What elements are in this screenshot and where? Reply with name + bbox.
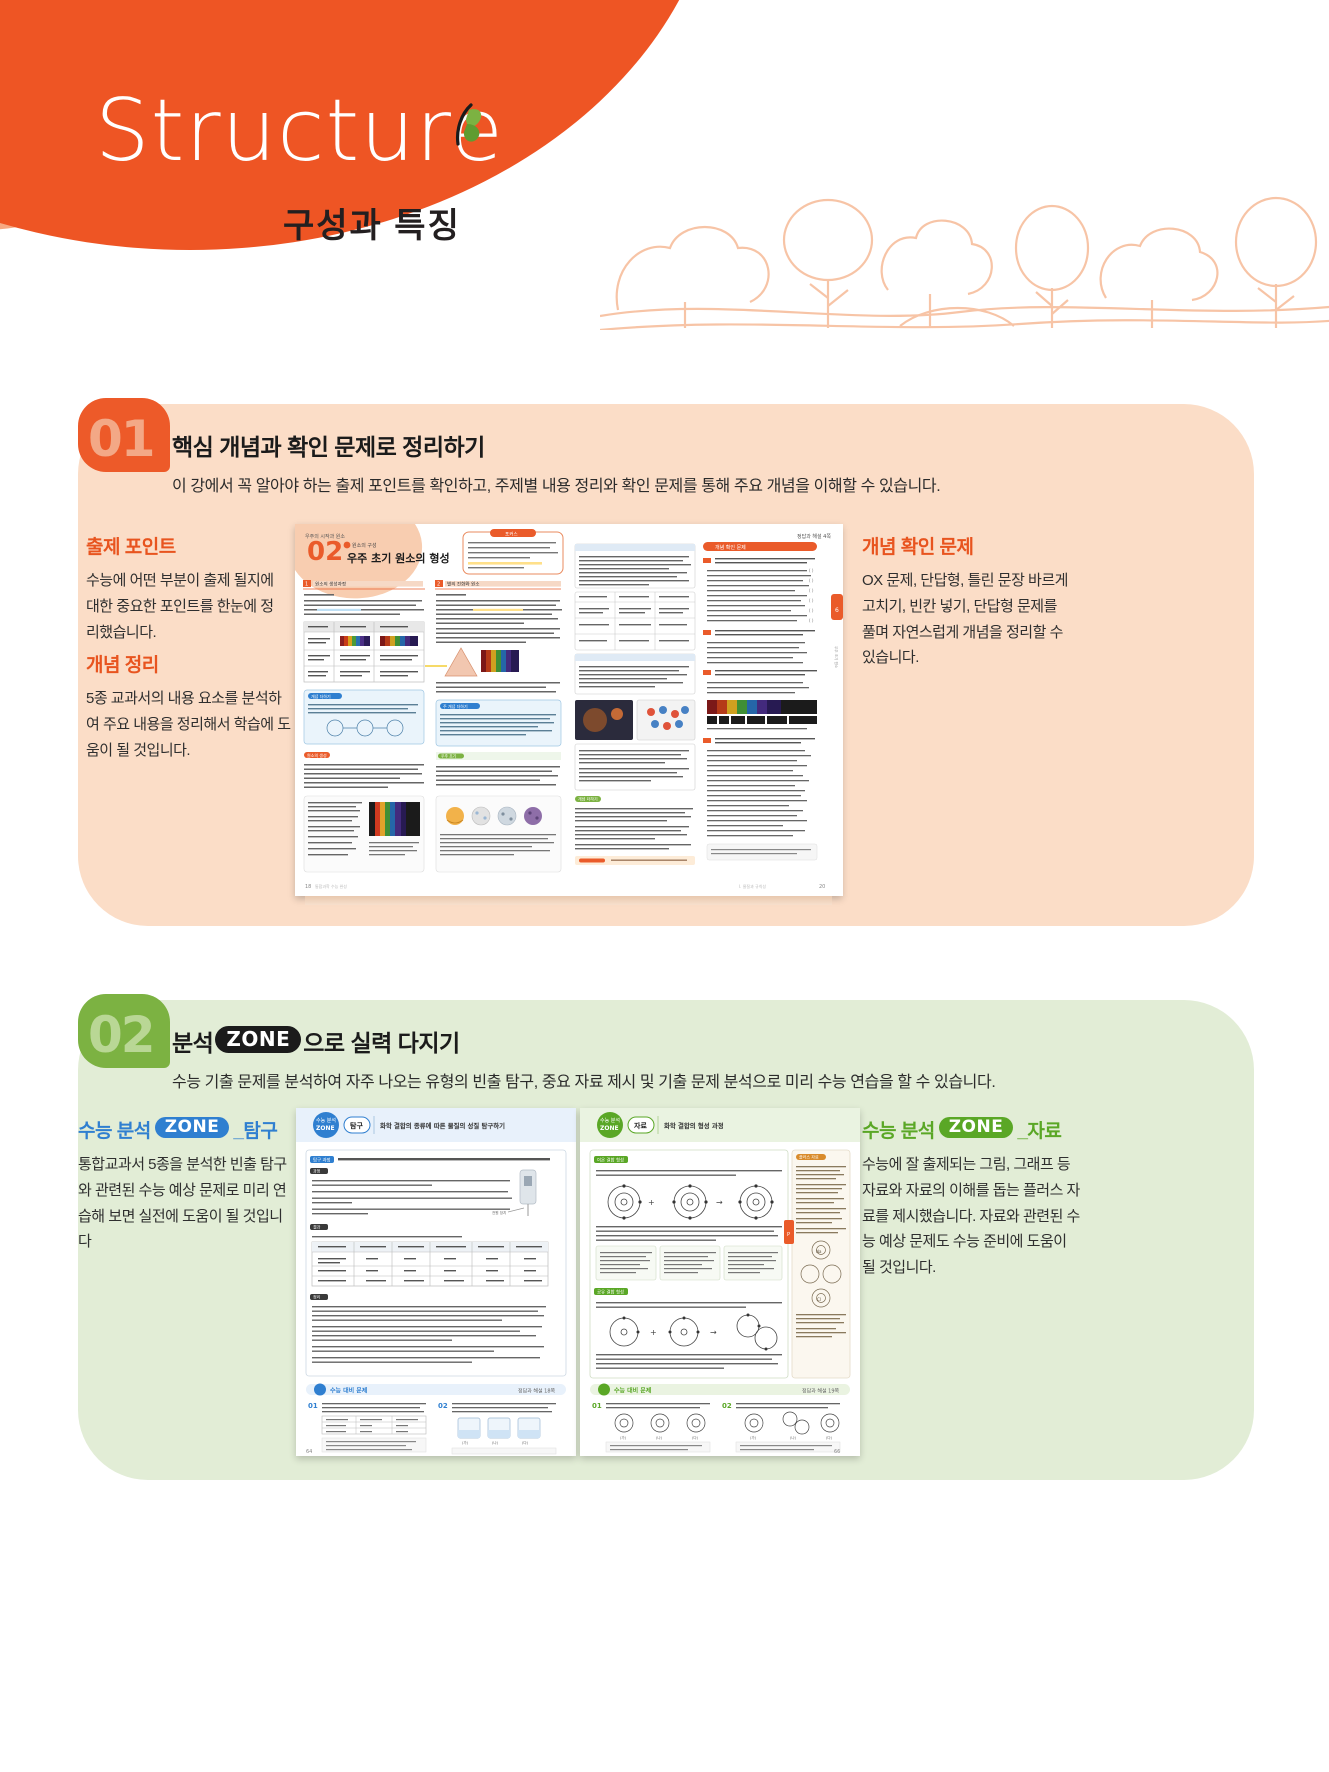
svg-text:+: + (650, 1328, 657, 1337)
svg-text:원소의 생성: 원소의 생성 (307, 752, 327, 758)
svg-text:자료: 자료 (634, 1121, 647, 1130)
svg-text:Cl: Cl (817, 1297, 821, 1302)
svg-text:( ): ( ) (809, 618, 814, 623)
svg-text:포커스: 포커스 (505, 531, 518, 538)
section-01-column-concept-check: 개념 확인 문제 OX 문제, 단답형, 틀린 문장 바르게 고치기, 빈칸 넣… (862, 532, 1072, 671)
svg-text:정답과 해설 19쪽: 정답과 해설 19쪽 (802, 1388, 840, 1395)
svg-text:개념 더하기: 개념 더하기 (311, 693, 331, 699)
section-02-title-suffix: 으로 실력 다지기 (303, 1024, 459, 1058)
column-heading: 수능 분석 ZONE _자료 (862, 1116, 1080, 1143)
textbook-spread-thumbnail-01[interactable]: 우주의 시작과 원소 02 원소의 구성 우주 초기 원소의 형성 포커스 (295, 524, 842, 896)
zone-badge: ZONE (215, 1026, 301, 1053)
svg-text:공유 결합 형성: 공유 결합 형성 (597, 1288, 624, 1295)
section-02-description: 수능 기출 문제를 분석하여 자주 나오는 유형의 빈출 탐구, 중요 자료 제… (172, 1068, 995, 1092)
column-body: 수능에 어떤 부분이 출제 될지에 대한 중요한 포인트를 한눈에 정리했습니다… (86, 568, 286, 645)
svg-text:→: → (716, 1198, 723, 1207)
svg-text:정리: 정리 (313, 1294, 321, 1300)
svg-text:통합과학 수능 완성: 통합과학 수능 완성 (315, 883, 347, 889)
section-01-title: 핵심 개념과 확인 문제로 정리하기 (172, 428, 485, 462)
section-02-number: 02 (88, 1006, 154, 1064)
svg-text:18: 18 (305, 884, 311, 890)
column-heading: 개념 확인 문제 (862, 532, 1072, 559)
zone-badge-green: ZONE (939, 1117, 1014, 1138)
svg-text:개념 더하기: 개념 더하기 (578, 796, 598, 802)
svg-text:우주 초기 원소의 형성: 우주 초기 원소의 형성 (347, 551, 450, 565)
section-01-badge: 01 (78, 398, 170, 472)
spread-left-art: 우주의 시작과 원소 02 원소의 구성 우주 초기 원소의 형성 포커스 (295, 524, 569, 896)
column-body: 통합교과서 5종을 분석한 빈출 탐구와 관련된 수능 예상 문제로 미리 연습… (78, 1152, 288, 1255)
svg-text:( ): ( ) (809, 578, 814, 583)
svg-text:02: 02 (722, 1402, 732, 1410)
section-01-number: 01 (88, 410, 154, 468)
thumbnail-jaryo-art: 수능 분석 ZONE 자료 화학 결합의 형성 과정 플러스 자료 (580, 1108, 860, 1456)
svg-text:수능 대비 문제: 수능 대비 문제 (330, 1387, 368, 1395)
page-title-group: Structure (95, 88, 504, 174)
svg-text:정답과 해설 18쪽: 정답과 해설 18쪽 (518, 1388, 556, 1395)
svg-text:개념 확인 문제: 개념 확인 문제 (715, 544, 746, 551)
svg-text:화학 결합의 형성 과정: 화학 결합의 형성 과정 (664, 1121, 724, 1130)
heading-prefix: 수능 분석 (78, 1116, 151, 1143)
decorative-trees (600, 120, 1329, 330)
svg-text:우주 초기 원소: 우주 초기 원소 (834, 646, 839, 669)
svg-text:64: 64 (306, 1449, 312, 1455)
section-01-description: 이 강에서 꼭 알아야 하는 출제 포인트를 확인하고, 주제별 내용 정리와 … (172, 472, 940, 496)
page-title-en: Structure (95, 88, 504, 174)
svg-text:+: + (648, 1198, 655, 1207)
leaf-icon (447, 102, 485, 148)
svg-text:정답과 해설 4쪽: 정답과 해설 4쪽 (797, 533, 831, 540)
svg-text:ZONE: ZONE (316, 1125, 335, 1132)
svg-text:01: 01 (308, 1402, 318, 1410)
svg-text:Ⅰ. 물질과 규칙성: Ⅰ. 물질과 규칙성 (739, 883, 766, 889)
svg-text:1: 1 (305, 582, 308, 588)
svg-text:수능 분석: 수능 분석 (600, 1117, 620, 1124)
svg-text:( ): ( ) (809, 598, 814, 603)
textbook-thumbnail-tamgu[interactable]: 수능 분석 ZONE 탐구 화학 결합의 종류에 따른 물질의 성질 탐구하기 … (296, 1108, 576, 1456)
column-heading: 출제 포인트 (86, 532, 286, 559)
section-02-column-jaryo: 수능 분석 ZONE _자료 수능에 잘 출제되는 그림, 그래프 등 자료와 … (862, 1116, 1080, 1281)
column-body: 수능에 잘 출제되는 그림, 그래프 등 자료와 자료의 이해를 돕는 플러스 … (862, 1152, 1080, 1281)
svg-text:2: 2 (437, 582, 440, 588)
column-heading: 수능 분석 ZONE _탐구 (78, 1116, 288, 1143)
svg-text:탐구: 탐구 (350, 1121, 363, 1130)
section-02-title-prefix: 분석 (172, 1024, 213, 1058)
section-02-title: 분석 ZONE 으로 실력 다지기 (172, 1024, 460, 1058)
column-body: OX 문제, 단답형, 틀린 문장 바르게 고치기, 빈칸 넣기, 단답형 문제… (862, 568, 1072, 671)
svg-text:수능 대비 문제: 수능 대비 문제 (614, 1387, 652, 1395)
svg-text:원소의 생성과정: 원소의 생성과정 (315, 581, 346, 588)
spread-page-right: 정답과 해설 4쪽 (569, 524, 843, 896)
svg-text:02: 02 (307, 537, 343, 567)
section-01-column-output-point: 출제 포인트 수능에 어떤 부분이 출제 될지에 대한 중요한 포인트를 한눈에… (86, 532, 286, 645)
svg-text:( ): ( ) (809, 588, 814, 593)
svg-text:(가): (가) (750, 1435, 757, 1440)
svg-text:( ): ( ) (809, 568, 814, 573)
thumbnail-tamgu-art: 수능 분석 ZONE 탐구 화학 결합의 종류에 따른 물질의 성질 탐구하기 … (296, 1108, 576, 1456)
spread-right-art: 정답과 해설 4쪽 (569, 524, 843, 896)
svg-text:(다): (다) (692, 1435, 699, 1440)
section-01-column-concept-summary: 개념 정리 5종 교과서의 내용 요소를 분석하여 주요 내용을 정리해서 학습… (86, 650, 291, 763)
svg-text:→: → (710, 1328, 717, 1337)
svg-text:화학 결합의 종류에 따른 물질의 성질 탐구하기: 화학 결합의 종류에 따른 물질의 성질 탐구하기 (380, 1121, 505, 1130)
svg-text:수능 분석: 수능 분석 (316, 1117, 336, 1124)
spread-shadow (305, 896, 832, 905)
svg-text:우주 초기: 우주 초기 (441, 753, 456, 758)
structure-page: Structure 구성과 특징 01 핵심 개념과 확인 문제로 정리하기 이… (0, 0, 1329, 1772)
heading-prefix: 수능 분석 (862, 1116, 935, 1143)
svg-text:6: 6 (835, 607, 839, 614)
section-02-badge: 02 (78, 994, 170, 1068)
svg-text:( ): ( ) (809, 608, 814, 613)
svg-text:(다): (다) (522, 1440, 529, 1445)
svg-text:(나): (나) (492, 1440, 499, 1445)
svg-text:02: 02 (438, 1402, 448, 1410)
heading-suffix: _탐구 (233, 1116, 277, 1143)
svg-text:전원 장치: 전원 장치 (492, 1210, 506, 1215)
svg-text:ZONE: ZONE (600, 1125, 619, 1132)
svg-text:탐구 과정: 탐구 과정 (313, 1156, 331, 1163)
svg-text:20: 20 (819, 884, 825, 890)
svg-text:주 개념 더하기: 주 개념 더하기 (443, 703, 468, 709)
svg-text:Na: Na (816, 1249, 822, 1254)
column-heading: 개념 정리 (86, 650, 291, 677)
svg-text:(가): (가) (462, 1440, 469, 1445)
svg-text:플러스 자료: 플러스 자료 (799, 1154, 819, 1160)
zone-badge-blue: ZONE (155, 1117, 230, 1138)
svg-text:과정: 과정 (313, 1168, 321, 1174)
column-body: 5종 교과서의 내용 요소를 분석하여 주요 내용을 정리해서 학습에 도움이 … (86, 686, 291, 763)
svg-text:01: 01 (592, 1402, 602, 1410)
svg-text:결과: 결과 (313, 1224, 321, 1230)
svg-text:(나): (나) (656, 1435, 663, 1440)
section-02-column-tamgu: 수능 분석 ZONE _탐구 통합교과서 5종을 분석한 빈출 탐구와 관련된 … (78, 1116, 288, 1255)
svg-text:66: 66 (834, 1449, 840, 1455)
page-subtitle-ko: 구성과 특징 (283, 198, 461, 247)
textbook-thumbnail-jaryo[interactable]: 수능 분석 ZONE 자료 화학 결합의 형성 과정 플러스 자료 (580, 1108, 860, 1456)
svg-text:별의 진화와 원소: 별의 진화와 원소 (447, 581, 480, 588)
svg-text:(나): (나) (790, 1435, 797, 1440)
spread-page-left: 우주의 시작과 원소 02 원소의 구성 우주 초기 원소의 형성 포커스 (295, 524, 569, 896)
svg-text:(가): (가) (620, 1435, 627, 1440)
svg-text:(다): (다) (826, 1435, 833, 1440)
heading-suffix: _자료 (1017, 1116, 1061, 1143)
svg-text:원소의 구성: 원소의 구성 (352, 542, 377, 549)
svg-text:P: P (787, 1232, 790, 1238)
svg-text:이온 결합 형성: 이온 결합 형성 (597, 1156, 624, 1163)
